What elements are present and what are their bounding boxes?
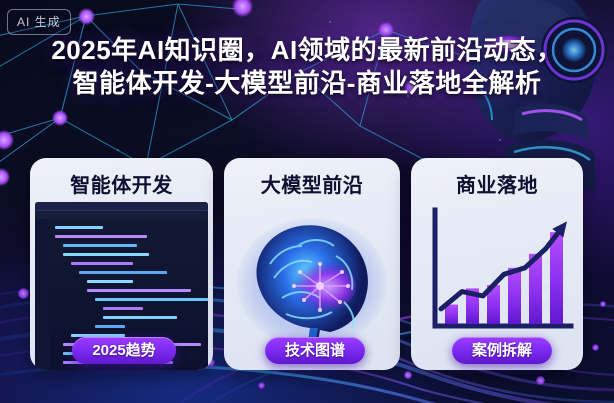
chart-bar — [445, 305, 458, 324]
title-line-1: 2025年AI知识圈，AI领域的最新前沿动态， — [0, 34, 614, 67]
trend-line — [441, 229, 562, 309]
network-node — [52, 110, 68, 126]
poster-root: AI 生成 2025年AI知识圈，AI领域的最新前沿动态， 智能体开发-大模型前… — [0, 0, 614, 403]
chart-bar — [508, 268, 521, 324]
network-node — [78, 8, 95, 25]
pill-button-trend[interactable]: 2025趋势 — [72, 337, 176, 364]
page-title: 2025年AI知识圈，AI领域的最新前沿动态， 智能体开发-大模型前沿-商业落地… — [0, 34, 614, 100]
ai-generated-badge: AI 生成 — [7, 9, 71, 35]
pill-button-case-study[interactable]: 案例拆解 — [452, 337, 552, 364]
bar-chart — [421, 206, 575, 340]
title-line-2: 智能体开发-大模型前沿-商业落地全解析 — [0, 67, 614, 100]
card-title: 智能体开发 — [30, 158, 213, 198]
chart-bar — [550, 232, 563, 324]
pill-button-tech-map[interactable]: 技术图谱 — [265, 337, 365, 364]
card-title: 商业落地 — [411, 158, 583, 198]
card-title: 大模型前沿 — [224, 158, 400, 198]
